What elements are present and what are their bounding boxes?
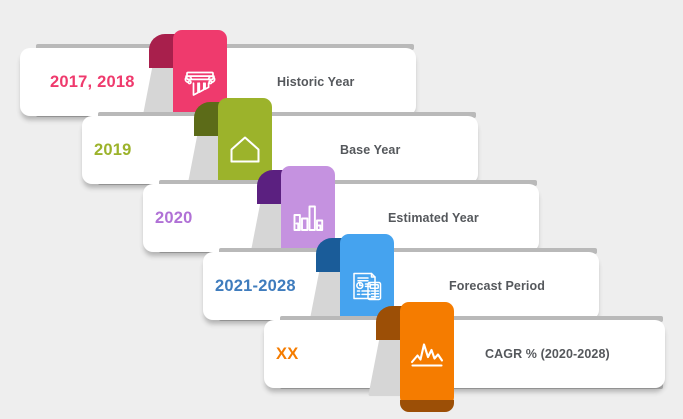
row-year: 2019: [94, 116, 132, 184]
row-label: CAGR % (2020-2028): [485, 320, 610, 388]
bar-chart-icon: [288, 198, 328, 238]
timeline-row: XXCAGR % (2020-2028): [264, 320, 665, 388]
row-year: 2021-2028: [215, 252, 296, 320]
house-icon: [225, 130, 265, 170]
calculator-document-icon: [347, 266, 387, 306]
line-chart-icon: [407, 334, 447, 374]
row-label: Forecast Period: [449, 252, 545, 320]
row-year: XX: [276, 320, 298, 388]
greek-column-icon: [180, 62, 220, 102]
timeline-infographic: 2017, 2018Historic Year 2019Base Year 20…: [0, 0, 683, 419]
icon-tile: [400, 302, 454, 406]
tile-foot-shadow: [400, 400, 454, 412]
row-year: 2020: [155, 184, 193, 252]
row-label: Estimated Year: [388, 184, 479, 252]
row-label: Base Year: [340, 116, 400, 184]
row-label: Historic Year: [277, 48, 355, 116]
row-year: 2017, 2018: [50, 48, 135, 116]
